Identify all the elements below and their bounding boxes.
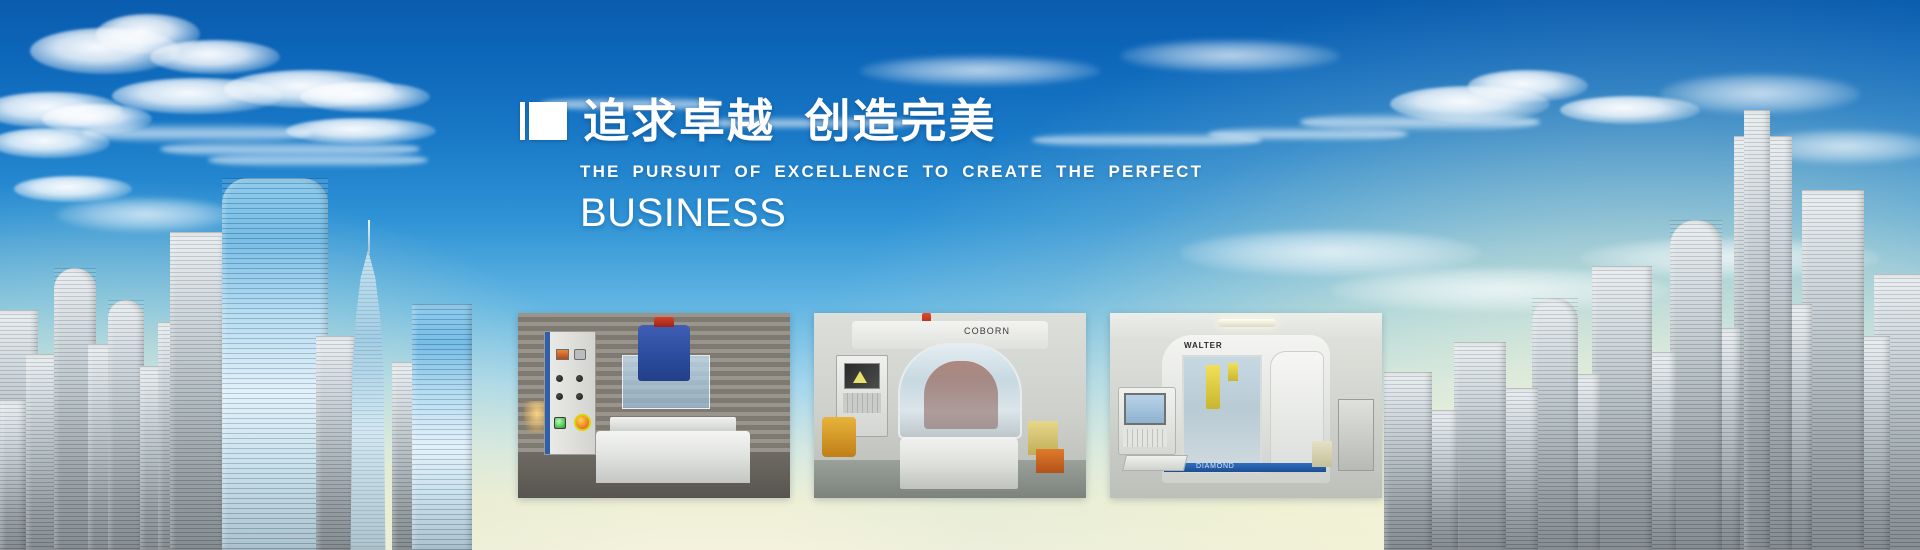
headline-subtitle: THE PURSUIT OF EXCELLENCE TO CREATE THE … [580,162,1203,182]
emergency-stop-button [574,414,591,431]
control-keypad [843,393,881,413]
console-keypad [1123,429,1167,447]
coolant-container [1312,441,1332,467]
console-keyboard [1122,455,1188,471]
logo-square-shape [529,102,567,140]
machine-drill-head [638,325,690,381]
panel-display [556,349,569,360]
machine-stripe-text: DIAMOND [1196,463,1235,470]
machine-glass-door [1182,355,1262,473]
bar-and-square-logo-icon [520,102,567,140]
panel-knob [576,393,583,400]
orange-crate [1036,449,1064,473]
electrical-cabinet [1338,399,1374,471]
ceiling-light [1218,319,1276,327]
control-panel [544,331,596,455]
city-skyline-left [0,130,470,550]
machine-blue-stripe [1164,463,1326,472]
machine-brand-label: COBORN [964,326,1010,336]
machine-photo-strip: COBORN WALTER DIAMOND [518,313,1382,498]
yellow-tooling [1228,363,1238,381]
machine-head-cap [654,317,674,327]
photo-edm-drilling-machine[interactable] [518,313,790,498]
machine-tank-base [900,437,1018,489]
business-word: BUSINESS [580,192,1203,234]
corporate-hero-banner: 追求卓越 创造完美 THE PURSUIT OF EXCELLENCE TO C… [0,0,1920,550]
photo-walter-cnc-tool-grinder[interactable]: WALTER DIAMOND [1110,313,1382,498]
photo-coborn-rotary-machine[interactable]: COBORN [814,313,1086,498]
machine-brand-label: WALTER [1184,341,1223,350]
machine-enclosure [898,343,1022,439]
start-button [554,417,566,429]
yellow-drum [822,417,856,457]
panel-knob [556,375,563,382]
headline-row: 追求卓越 创造完美 [520,98,1203,144]
machine-base [596,431,750,483]
control-screen [844,363,880,389]
enclosure-interior [924,361,998,429]
page-title: 追求卓越 创造完美 [583,98,997,144]
city-skyline-right [1360,80,1920,550]
panel-knob [556,393,563,400]
banner-copy-block: 追求卓越 创造完美 THE PURSUIT OF EXCELLENCE TO C… [520,98,1203,234]
console-screen [1124,393,1166,425]
yellow-tooling [1206,365,1220,409]
panel-dial [574,349,586,360]
logo-bar-shape [520,102,525,140]
panel-knob [576,375,583,382]
